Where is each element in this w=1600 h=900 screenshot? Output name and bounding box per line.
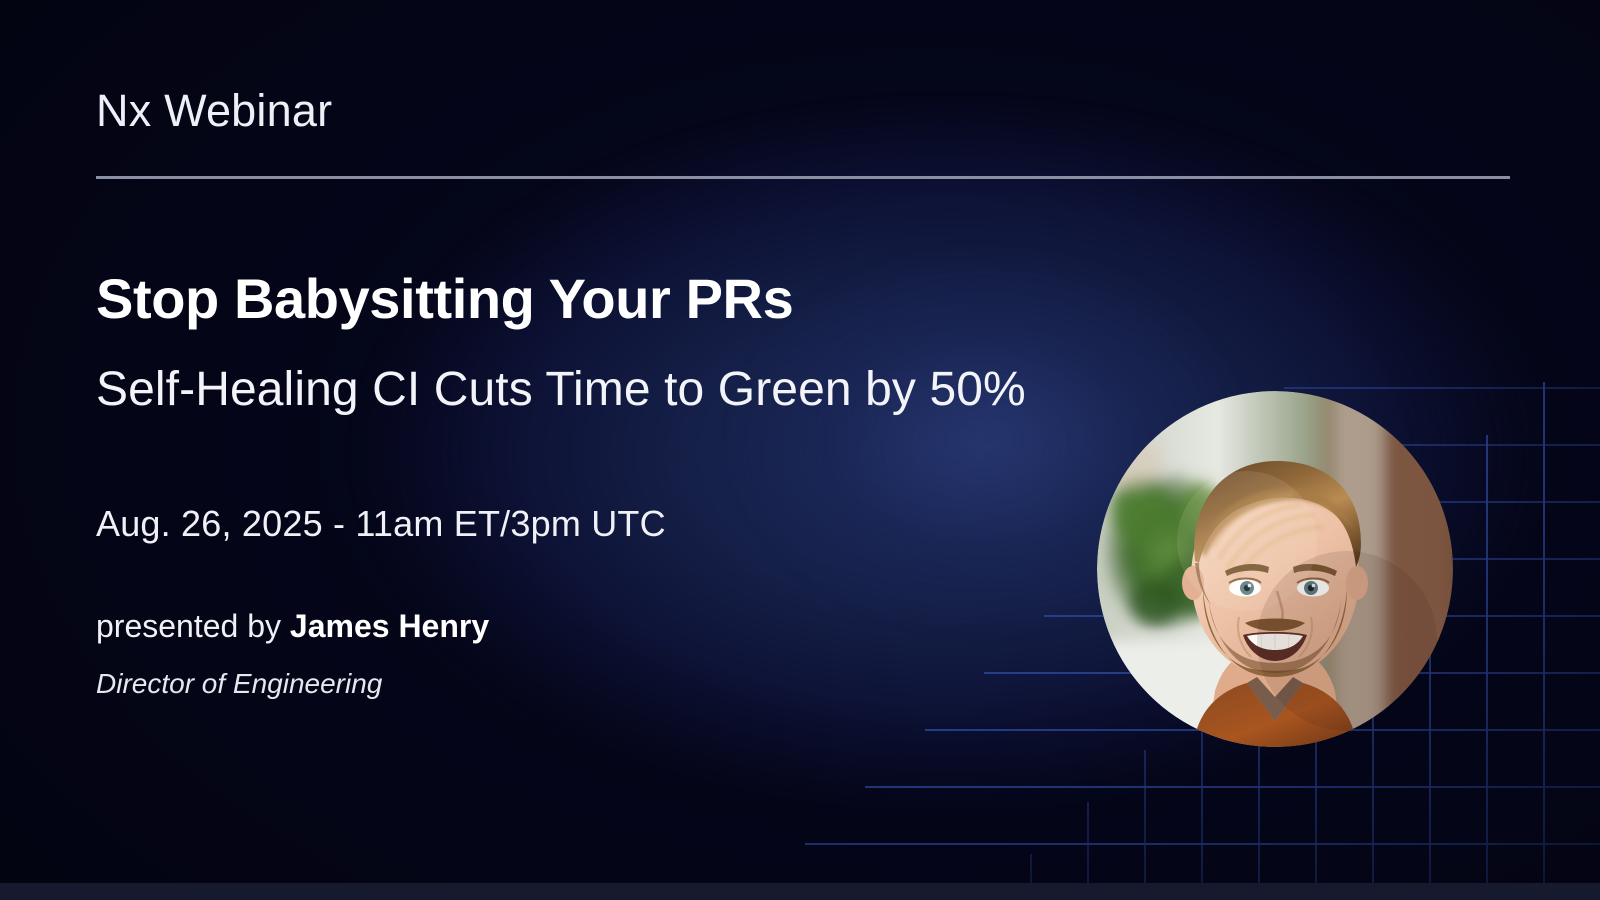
eyebrow-label: Nx Webinar [96, 88, 332, 133]
header-divider [96, 176, 1510, 179]
avatar [1097, 391, 1453, 747]
avatar-photo-icon [1097, 391, 1453, 747]
page-title: Stop Babysitting Your PRs [96, 269, 793, 328]
webinar-promo-card: Nx Webinar Stop Babysitting Your PRs Sel… [0, 0, 1600, 900]
page-subtitle: Self-Healing CI Cuts Time to Green by 50… [96, 354, 1096, 427]
bottom-accent-bar [0, 883, 1600, 900]
event-datetime: Aug. 26, 2025 - 11am ET/3pm UTC [96, 506, 666, 542]
presenter-role: Director of Engineering [96, 670, 382, 698]
presenter-line: presented by James Henry [96, 610, 489, 642]
presenter-prefix: presented by [96, 608, 290, 644]
presenter-name: James Henry [290, 608, 489, 644]
